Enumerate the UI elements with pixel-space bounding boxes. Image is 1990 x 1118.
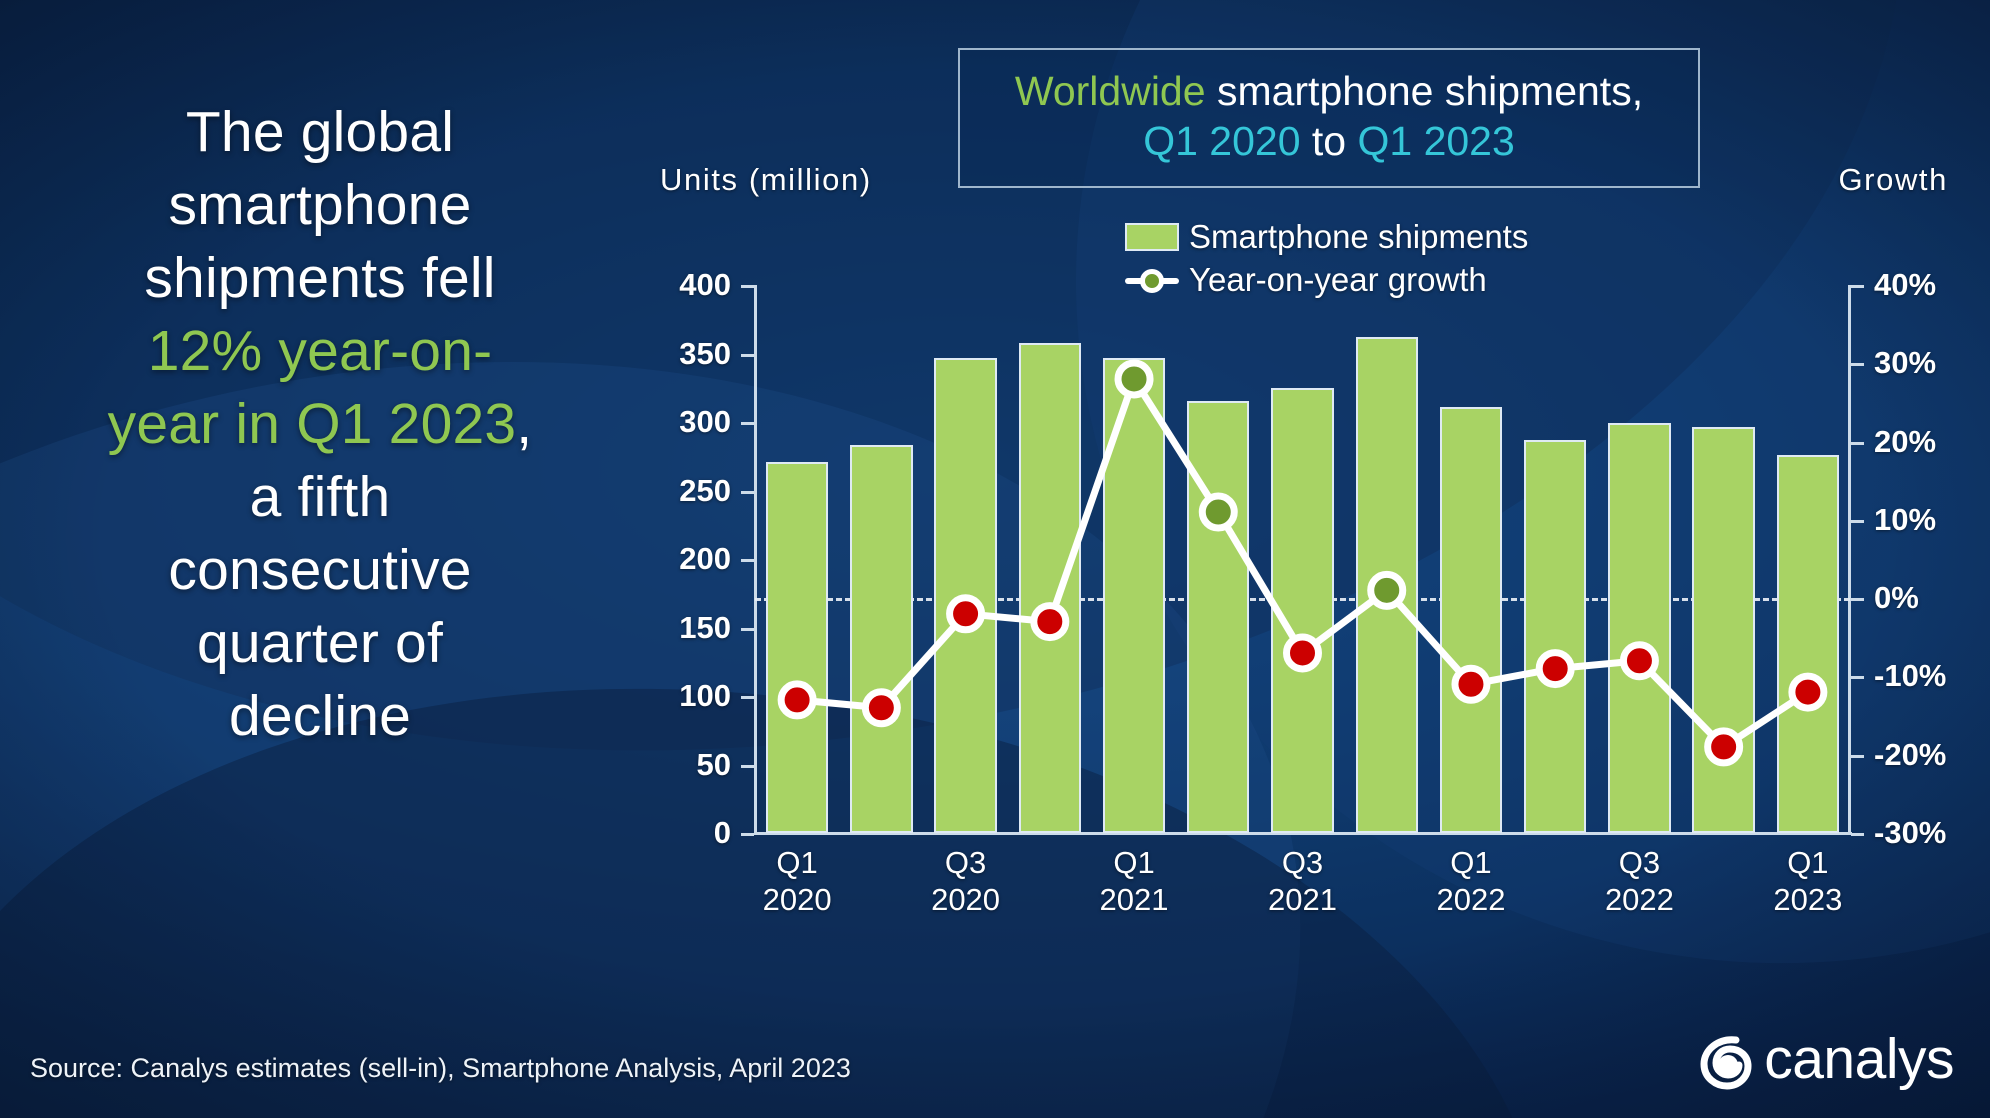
x-axis-label: Q12021 [1100, 845, 1169, 918]
x-axis-label-line: Q1 [1436, 845, 1505, 882]
chart-title-box: Worldwide smartphone shipments, Q1 2020 … [958, 48, 1700, 188]
left-axis-tick [741, 491, 754, 494]
headline-line-6: a fifth [40, 461, 600, 534]
x-axis-label: Q12020 [763, 845, 832, 918]
x-axis-label-line: 2020 [763, 882, 832, 919]
growth-marker [865, 692, 897, 724]
left-axis-tick [741, 285, 754, 288]
legend-bar-swatch [1125, 223, 1179, 251]
left-axis-tick-label: 400 [679, 267, 731, 303]
x-axis-label-line: Q1 [1773, 845, 1842, 882]
x-axis-label-line: Q1 [763, 845, 832, 882]
x-axis-label: Q12023 [1773, 845, 1842, 918]
chart-legend: Smartphone shipments Year-on-year growth [1125, 218, 1528, 304]
headline-line-8: quarter of [40, 607, 600, 680]
growth-marker [1371, 574, 1403, 606]
x-axis-label: Q32022 [1605, 845, 1674, 918]
growth-marker [1287, 637, 1319, 669]
left-axis-tick-label: 300 [679, 404, 731, 440]
legend-item-shipments: Smartphone shipments [1125, 218, 1528, 257]
headline-line-7: consecutive [40, 534, 600, 607]
right-axis-tick [1851, 755, 1864, 758]
left-axis-tick [741, 422, 754, 425]
headline-line-9: decline [40, 680, 600, 753]
legend-line-marker-icon [1140, 269, 1164, 293]
left-axis-title: Units (million) [660, 162, 872, 198]
plot-region: 400350300250200150100500 40%30%20%10%0%-… [755, 285, 1850, 833]
right-axis-tick [1851, 363, 1864, 366]
right-axis-tick [1851, 598, 1864, 601]
x-axis-label-line: Q1 [1100, 845, 1169, 882]
right-axis-tick-label: 0% [1874, 580, 1919, 616]
left-axis-tick-label: 200 [679, 541, 731, 577]
growth-marker [1792, 676, 1824, 708]
legend-bar-label: Smartphone shipments [1189, 218, 1528, 257]
headline-highlight-1: 12% year-on- [40, 315, 600, 388]
left-axis-tick [741, 833, 754, 836]
left-axis-tick [741, 628, 754, 631]
legend-line-label: Year-on-year growth [1189, 261, 1487, 300]
right-axis-tick-label: -10% [1874, 658, 1946, 694]
right-axis-tick-label: 20% [1874, 424, 1936, 460]
x-axis-label-line: 2021 [1100, 882, 1169, 919]
left-axis-tick-label: 150 [679, 610, 731, 646]
x-axis-label-line: 2022 [1605, 882, 1674, 919]
growth-marker [1708, 731, 1740, 763]
right-axis-tick-label: 40% [1874, 267, 1936, 303]
headline-comma: , [516, 392, 532, 456]
legend-item-growth: Year-on-year growth [1125, 261, 1528, 300]
chart-title-to: to [1301, 118, 1358, 164]
right-axis-title: Growth [1838, 162, 1948, 198]
growth-marker [1539, 653, 1571, 685]
left-axis-tick-label: 100 [679, 678, 731, 714]
x-axis-label-line: 2022 [1436, 882, 1505, 919]
canalys-logo: canalys [1692, 1026, 1954, 1092]
left-axis-tick [741, 559, 754, 562]
growth-markers [781, 363, 1824, 763]
right-axis-tick [1851, 520, 1864, 523]
right-axis-tick-label: 10% [1874, 502, 1936, 538]
left-axis-tick [741, 696, 754, 699]
x-axis-label-line: 2020 [931, 882, 1000, 919]
chart-area: Units (million) Growth 40035030025020015… [660, 200, 1950, 900]
x-axis-label-line: 2023 [1773, 882, 1842, 919]
x-axis-label: Q32020 [931, 845, 1000, 918]
left-axis-tick [741, 354, 754, 357]
chart-title-line-2: Q1 2020 to Q1 2023 [970, 116, 1688, 166]
legend-line-swatch [1125, 266, 1179, 294]
right-axis-tick [1851, 676, 1864, 679]
left-axis-tick-label: 50 [697, 747, 731, 783]
headline-highlight-2-row: year in Q1 2023, [40, 388, 600, 461]
growth-marker [1118, 363, 1150, 395]
right-axis-tick-label: -20% [1874, 737, 1946, 773]
headline-highlight-2: year in Q1 2023 [108, 392, 517, 456]
x-axis-label-line: Q3 [1605, 845, 1674, 882]
left-axis-tick-label: 0 [714, 815, 731, 851]
headline-line-3: shipments fell [40, 242, 600, 315]
canalys-mark-icon [1692, 1028, 1754, 1090]
source-note: Source: Canalys estimates (sell-in), Sma… [30, 1053, 851, 1084]
growth-marker [1034, 606, 1066, 638]
x-axis-label: Q32021 [1268, 845, 1337, 918]
growth-polyline [797, 379, 1808, 747]
chart-title-worldwide: Worldwide [1015, 68, 1206, 114]
chart-title-end-quarter: Q1 2023 [1357, 118, 1514, 164]
left-axis-tick [741, 765, 754, 768]
x-axis-label-line: Q3 [931, 845, 1000, 882]
growth-line-series [755, 285, 1850, 833]
x-axis-label-line: 2021 [1268, 882, 1337, 919]
headline-line-2: smartphone [40, 169, 600, 242]
headline-text: The global smartphone shipments fell 12%… [40, 96, 600, 753]
chart-title-subject: smartphone shipments, [1206, 68, 1644, 114]
growth-marker [1202, 496, 1234, 528]
chart-title-start-quarter: Q1 2020 [1143, 118, 1300, 164]
right-axis-tick-label: -30% [1874, 815, 1946, 851]
growth-marker [950, 598, 982, 630]
headline-line-1: The global [40, 96, 600, 169]
canalys-wordmark: canalys [1764, 1026, 1954, 1092]
growth-marker [781, 684, 813, 716]
growth-marker [1623, 645, 1655, 677]
left-axis-tick-label: 350 [679, 336, 731, 372]
right-axis-tick [1851, 285, 1864, 288]
right-axis-tick-label: 30% [1874, 345, 1936, 381]
right-axis-tick [1851, 833, 1864, 836]
chart-title-line-1: Worldwide smartphone shipments, [970, 66, 1688, 116]
growth-marker [1455, 668, 1487, 700]
right-axis-tick [1851, 442, 1864, 445]
x-axis-label-line: Q3 [1268, 845, 1337, 882]
x-axis-label: Q12022 [1436, 845, 1505, 918]
left-axis-tick-label: 250 [679, 473, 731, 509]
